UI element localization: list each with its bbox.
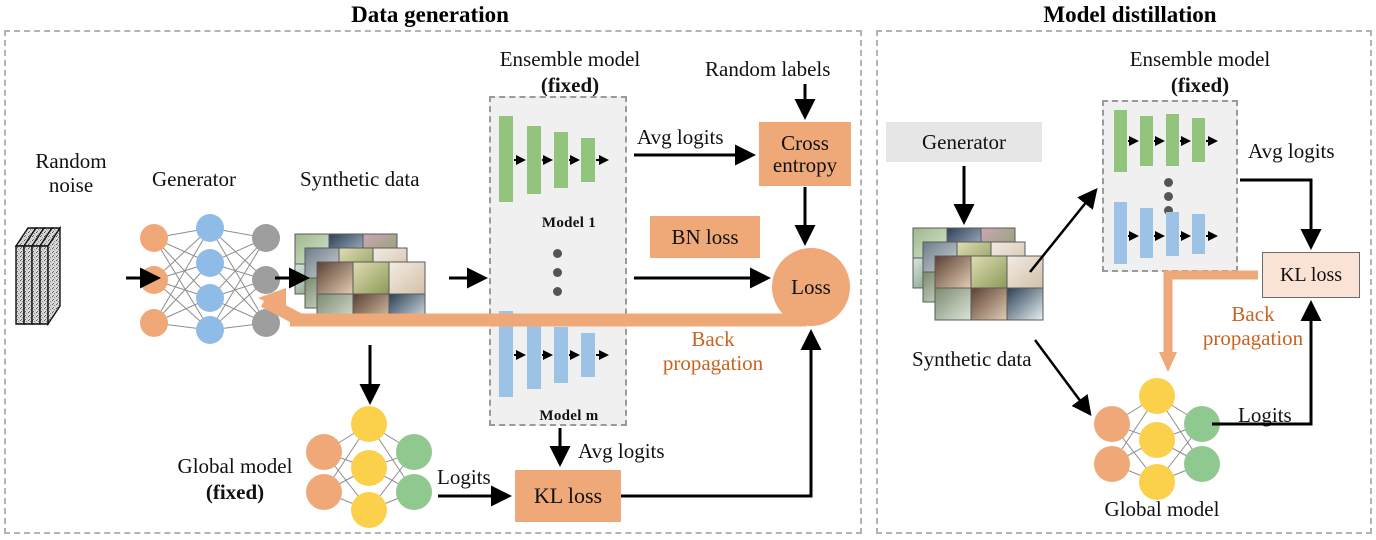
label-global-model-left: Global model (160, 455, 310, 479)
synthetic-data-stack-right (913, 228, 1063, 338)
random-noise-stack (16, 228, 121, 328)
label-back-propagation-right: Back propagation (1178, 303, 1328, 350)
label-avg-logits-bottom: Avg logits (578, 440, 665, 464)
global-model-network-right (1092, 382, 1222, 504)
ensemble-green-bars-right (1112, 108, 1232, 178)
panel-title-data-generation: Data generation (300, 2, 560, 28)
label-global-model-right: Global model (1082, 498, 1242, 522)
ellipsis-dot-3 (553, 287, 562, 296)
model-1-bars (497, 110, 621, 210)
label-global-fixed-left: (fixed) (160, 481, 310, 505)
cross-entropy-box: Cross entropy (759, 122, 851, 186)
label-back-propagation-left: Back propagation (638, 328, 788, 375)
label-avg-logits-top: Avg logits (637, 126, 724, 150)
label-synthetic-data-right: Synthetic data (912, 348, 1032, 372)
label-ensemble-fixed-right: (fixed) (1100, 74, 1300, 98)
label-generator-left: Generator (152, 168, 236, 192)
bn-loss-box: BN loss (650, 216, 760, 258)
kl-loss-box-right: KL loss (1262, 252, 1360, 298)
kl-loss-box-left: KL loss (515, 470, 621, 522)
label-random-labels: Random labels (705, 58, 830, 82)
global-model-network-left (304, 410, 434, 532)
ellipsis-dot-1 (553, 249, 562, 258)
ellipsis-dot-right-1 (1164, 178, 1173, 187)
loss-circle: Loss (772, 248, 850, 326)
label-model-1: Model 1 (519, 215, 619, 232)
model-m-bars (497, 305, 621, 405)
label-ensemble-model-right: Ensemble model (1100, 48, 1300, 72)
ensemble-blue-bars-right (1112, 200, 1232, 270)
label-ensemble-fixed-left: (fixed) (470, 74, 670, 98)
ellipsis-dot-2 (553, 268, 562, 277)
label-ensemble-model-left: Ensemble model (470, 48, 670, 72)
label-synthetic-data-left: Synthetic data (300, 168, 420, 192)
label-logits-left: Logits (437, 466, 491, 490)
label-model-m: Model m (519, 408, 619, 425)
label-avg-logits-right: Avg logits (1248, 140, 1335, 164)
generator-box-right: Generator (886, 122, 1042, 162)
label-logits-right: Logits (1238, 404, 1292, 428)
synthetic-data-stack-left (295, 234, 445, 344)
label-random-noise: Random noise (16, 150, 126, 197)
panel-title-model-distillation: Model distillation (1000, 2, 1260, 28)
generator-network-left (130, 218, 290, 343)
